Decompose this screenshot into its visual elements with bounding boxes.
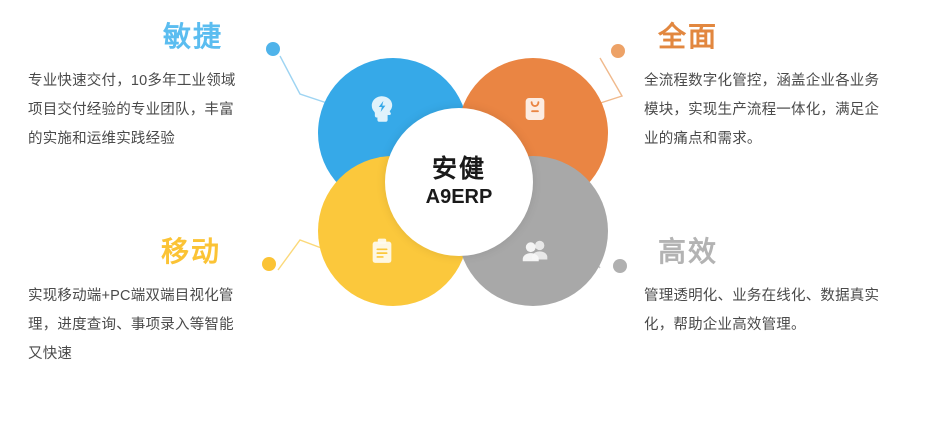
quadrant-efficient-heading: 高效 <box>644 237 899 268</box>
users-group-icon <box>518 234 552 268</box>
quadrant-efficient-body: 管理透明化、业务在线化、数据真实化，帮助企业高效管理。 <box>644 282 884 340</box>
quadrant-mobile-heading: 移动 <box>28 237 283 268</box>
head-lightning-icon <box>365 92 399 126</box>
hub-name-en: A9ERP <box>426 184 493 211</box>
quadrant-agile: 敏捷 专业快速交付，10多年工业领域项目交付经验的专业团队，丰富的实施和运维实践… <box>28 22 283 154</box>
quadrant-agile-heading: 敏捷 <box>28 22 283 53</box>
box-package-icon <box>518 92 552 126</box>
petal-cluster: 安健 A9ERP <box>318 58 618 308</box>
center-hub: 安健 A9ERP <box>385 108 533 256</box>
quadrant-complete-heading: 全面 <box>644 22 899 53</box>
quadrant-mobile: 移动 实现移动端+PC端双端目视化管理，进度查询、事项录入等智能又快速 <box>28 237 283 369</box>
infographic-canvas: 安健 A9ERP 敏捷 专业快速交付，10多年工业领域项目交付经验的专业团队，丰… <box>0 0 947 421</box>
quadrant-efficient: 高效 管理透明化、业务在线化、数据真实化，帮助企业高效管理。 <box>644 237 899 340</box>
clipboard-list-icon <box>365 234 399 268</box>
quadrant-complete: 全面 全流程数字化管控，涵盖企业各业务模块，实现生产流程一体化，满足企业的痛点和… <box>644 22 899 154</box>
quadrant-agile-body: 专业快速交付，10多年工业领域项目交付经验的专业团队，丰富的实施和运维实践经验 <box>28 67 248 154</box>
hub-name-cn: 安健 <box>432 154 486 184</box>
quadrant-mobile-body: 实现移动端+PC端双端目视化管理，进度查询、事项录入等智能又快速 <box>28 282 248 369</box>
quadrant-complete-body: 全流程数字化管控，涵盖企业各业务模块，实现生产流程一体化，满足企业的痛点和需求。 <box>644 67 884 154</box>
connector-dot-complete <box>611 44 625 58</box>
